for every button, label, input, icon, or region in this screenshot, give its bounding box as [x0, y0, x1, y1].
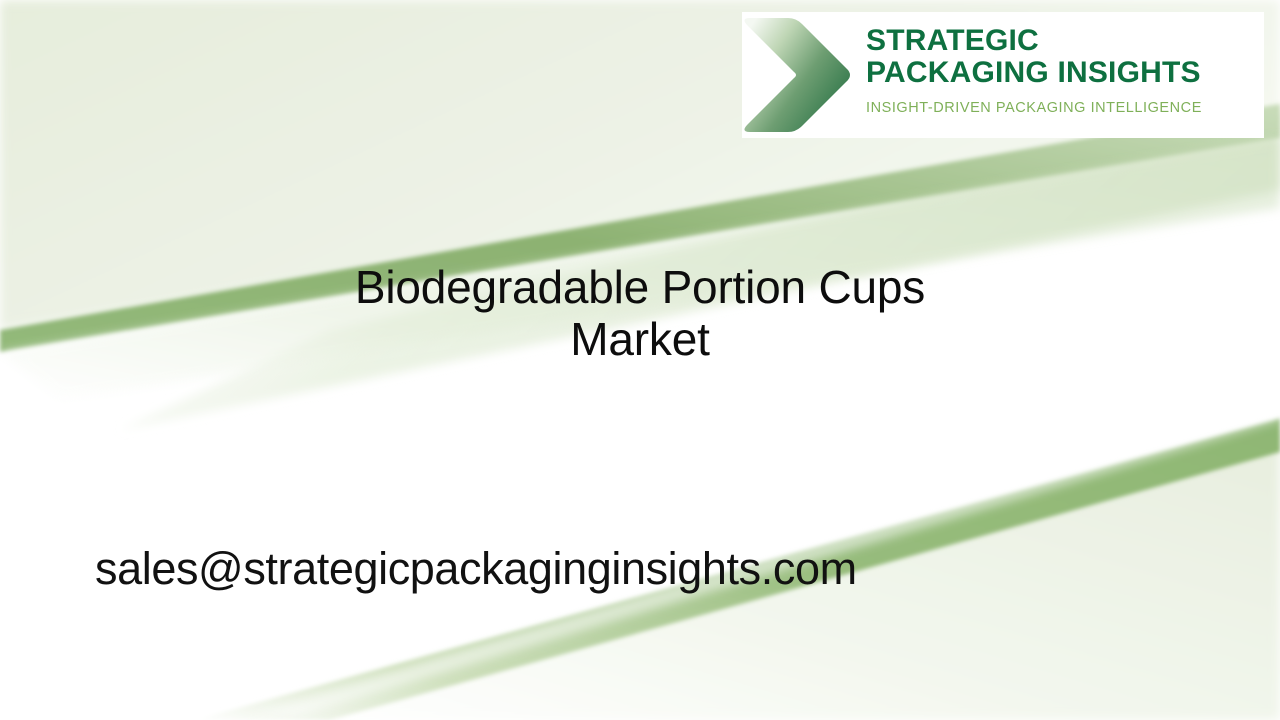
logo-text-block: STRATEGIC PACKAGING INSIGHTS INSIGHT-DRI… — [860, 12, 1264, 116]
title-slide: STRATEGIC PACKAGING INSIGHTS INSIGHT-DRI… — [0, 0, 1280, 720]
chevron-arrow-icon — [742, 12, 860, 138]
logo-brand-line-2: PACKAGING INSIGHTS — [866, 58, 1264, 87]
chevron-arrow-svg — [742, 12, 860, 138]
logo-tagline: INSIGHT-DRIVEN PACKAGING INTELLIGENCE — [866, 100, 1264, 116]
company-logo[interactable]: STRATEGIC PACKAGING INSIGHTS INSIGHT-DRI… — [742, 12, 1264, 138]
slide-title: Biodegradable Portion Cups Market — [340, 262, 940, 365]
contact-email[interactable]: sales@strategicpackaginginsights.com — [95, 543, 857, 595]
logo-brand-line-1: STRATEGIC — [866, 26, 1264, 55]
